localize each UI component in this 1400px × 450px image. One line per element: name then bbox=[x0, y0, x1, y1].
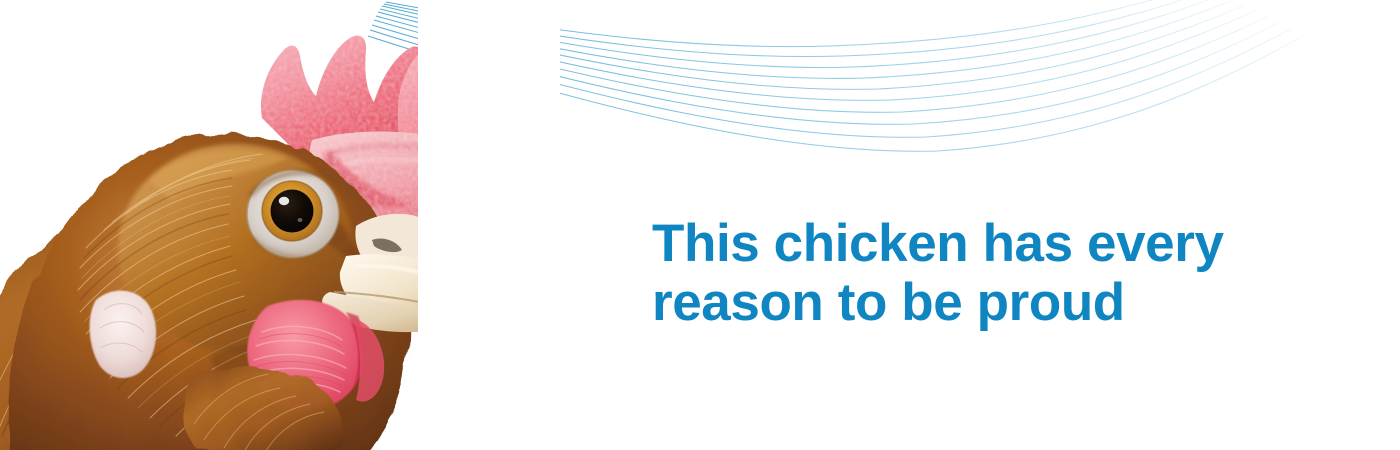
earlobe bbox=[90, 291, 156, 378]
headline-line-2: reason to be proud bbox=[652, 273, 1272, 332]
chicken-head-photo bbox=[0, 0, 560, 450]
headline: This chicken has every reason to be prou… bbox=[652, 214, 1272, 333]
promo-banner: This chicken has every reason to be prou… bbox=[0, 0, 1400, 450]
headline-line-1: This chicken has every bbox=[652, 214, 1272, 273]
